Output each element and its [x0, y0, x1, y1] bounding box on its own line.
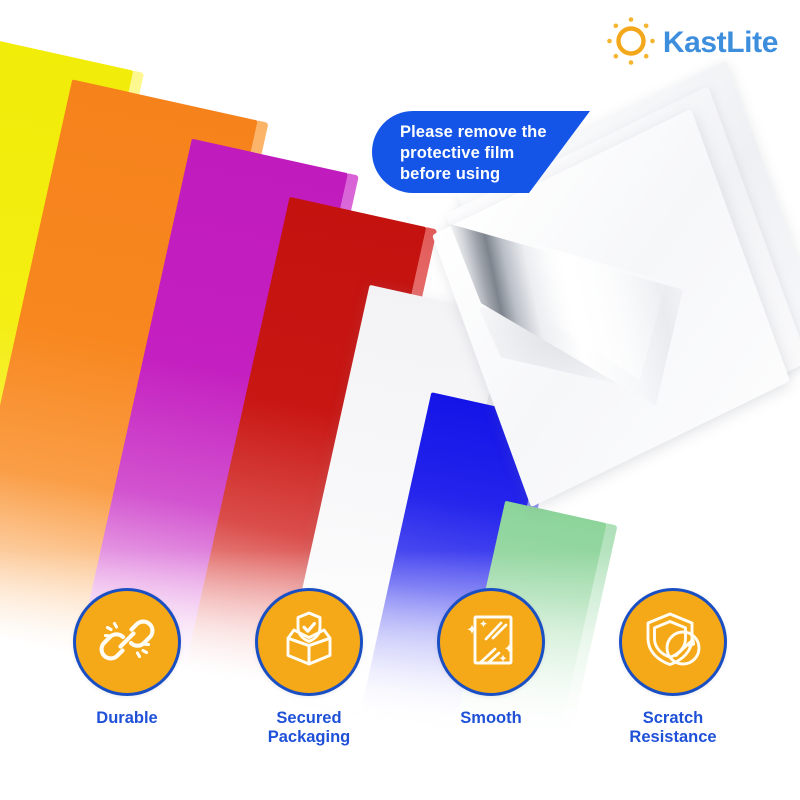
shield-knife-icon: [640, 607, 706, 678]
feature-durable: Durable: [41, 588, 213, 728]
feature-label: Durable: [96, 709, 157, 728]
feature-icon-circle: [255, 588, 363, 696]
feature-badges: Durable Secured Packaging: [0, 588, 800, 778]
sun-icon: [603, 13, 659, 74]
feature-label: Smooth: [460, 709, 521, 728]
feature-icon-circle: [619, 588, 727, 696]
product-marketing-image: Please remove the protective film before…: [0, 0, 800, 800]
sparkle-panel-icon: [459, 608, 523, 677]
chain-link-icon: [95, 608, 159, 677]
shield-box-icon: [276, 607, 342, 678]
feature-icon-circle: [73, 588, 181, 696]
feature-label: Scratch Resistance: [629, 709, 716, 748]
feature-label: Secured Packaging: [268, 709, 351, 748]
feature-scratch-resistance: Scratch Resistance: [587, 588, 759, 748]
feature-smooth: Smooth: [405, 588, 577, 728]
brand-wordmark: KastLite: [663, 28, 778, 58]
feature-icon-circle: [437, 588, 545, 696]
brand-logo: KastLite: [603, 14, 778, 72]
feature-secured-packaging: Secured Packaging: [223, 588, 395, 748]
